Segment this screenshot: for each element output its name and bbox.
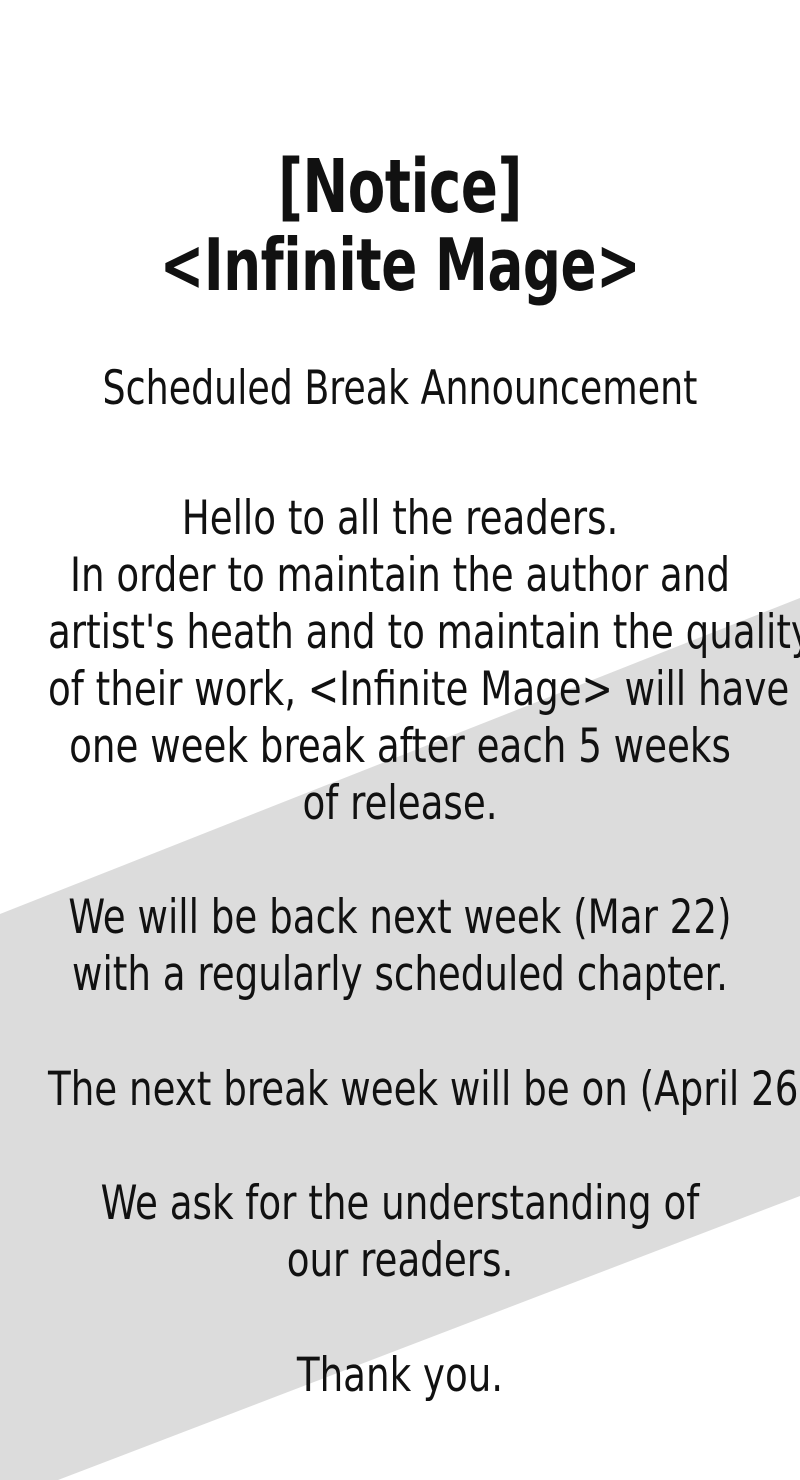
paragraph-return-date: We will be back next week (Mar 22) with … (48, 889, 752, 1003)
body-line: one week break after each 5 weeks (48, 718, 752, 775)
body-line: with a regularly scheduled chapter. (48, 946, 752, 1003)
body-line: We will be back next week (Mar 22) (48, 889, 752, 946)
page-title: [Notice] <Infinite Mage> (72, 148, 728, 304)
body-line: Thank you. (48, 1347, 752, 1404)
body-line: artist's heath and to maintain the quali… (48, 604, 752, 661)
title-line-series-name: <Infinite Mage> (72, 226, 728, 304)
paragraph-understanding: We ask for the understanding of our read… (48, 1175, 752, 1289)
notice-content: [Notice] <Infinite Mage> Scheduled Break… (0, 0, 800, 1480)
notice-image: [Notice] <Infinite Mage> Scheduled Break… (0, 0, 800, 1480)
body-line: of release. (48, 775, 752, 832)
paragraph-next-break: The next break week will be on (April 26… (48, 1061, 752, 1118)
paragraph-intro: Hello to all the readers. In order to ma… (48, 490, 752, 832)
body-line: Hello to all the readers. (48, 490, 752, 547)
body-line: of their work, <Infinite Mage> will have… (48, 661, 752, 718)
body-line: We ask for the understanding of (48, 1175, 752, 1232)
body-line: The next break week will be on (April 26… (48, 1061, 752, 1118)
body-line: our readers. (48, 1232, 752, 1289)
paragraph-closing: Thank you. (48, 1347, 752, 1404)
title-line-notice: [Notice] (72, 148, 728, 226)
subtitle: Scheduled Break Announcement (56, 362, 744, 416)
body-line: In order to maintain the author and (48, 547, 752, 604)
